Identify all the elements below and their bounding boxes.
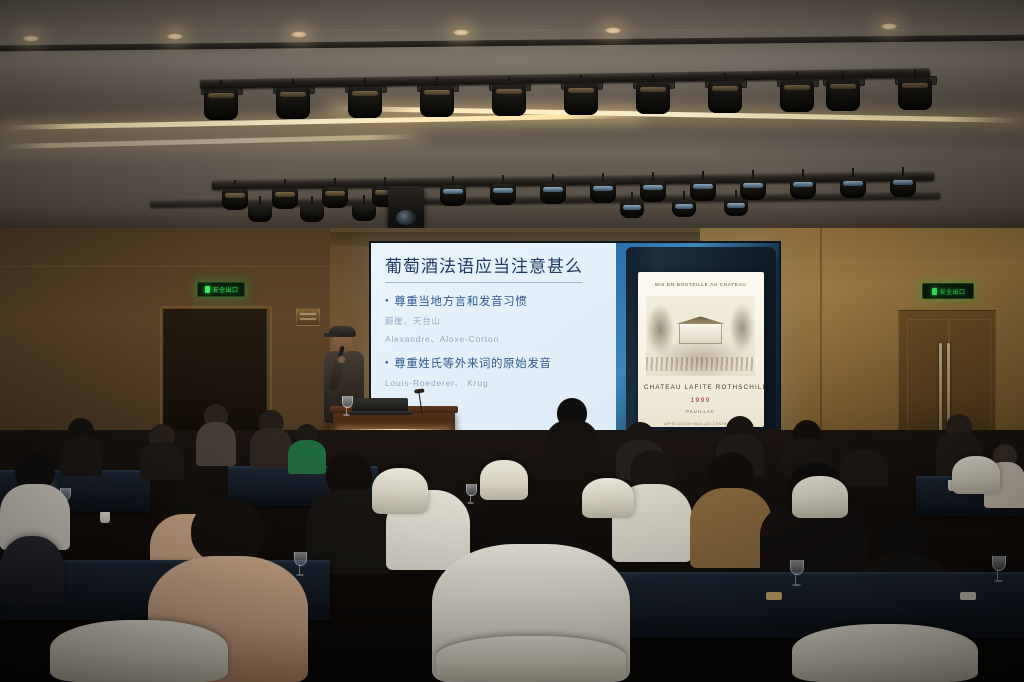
audience-person [196,404,236,466]
banquet-chair[interactable] [582,478,634,518]
ceiling-downlight [880,23,898,30]
presenter-cap [329,326,356,337]
stage-light-icon [272,179,298,209]
banquet-chair[interactable] [0,536,64,606]
stage-light-icon [780,72,814,112]
label-vintage: 1999 [644,397,757,404]
stage-light-icon [248,196,272,222]
stage-light-icon [790,169,816,199]
wine-bottle-label: MIS EN BOUTEILLE AU CHATEAU CHATEAU LAFI… [638,272,764,427]
stage-light-icon [490,175,516,205]
ceiling-downlight [22,35,40,42]
ceiling-downlight [290,31,308,38]
ceiling-downlight [166,33,184,40]
wine-glass-icon [992,556,1004,584]
banquet-chair[interactable] [436,636,626,682]
slide-bullet-1: 尊重当地方言和发音习惯 [385,293,618,309]
stage-light-icon [420,77,454,117]
stage-light-icon [322,178,348,208]
audience-person [546,398,598,468]
projector-icon [388,186,424,230]
stage-light-icon [352,195,376,221]
wine-glass-icon [790,560,802,588]
audience-person [140,424,184,480]
slide-subline-1: 蔚崖、天台山 [385,315,618,327]
stage-light-icon [204,80,238,120]
label-estate-name: CHATEAU LAFITE ROTHSCHILD [644,384,757,391]
banquet-chair[interactable] [952,456,1000,494]
label-appellation: PAUILLAC [644,409,757,414]
chateau-illustration [679,323,722,344]
audience-person [250,410,292,468]
table-front-right [600,572,1024,638]
stage-light-icon [898,70,932,110]
stage-light-icon [222,180,248,210]
stage-light-icon [300,196,324,222]
napkin [960,592,976,600]
stage-light-icon [492,76,526,116]
coffee-cup-icon [100,512,110,523]
ceiling-downlight [452,29,470,36]
presenter-hand [338,356,345,363]
exit-sign-right: 安全出口 [922,283,974,299]
conference-hall-photo: 安全出口 安全出口 葡萄酒法语应当注意甚么 尊重当地方言和发音习惯 蔚崖、天台山… [0,0,1024,682]
stage-light-icon [620,192,644,218]
stage-light-icon [826,71,860,111]
ceiling-downlight [604,27,622,34]
banquet-chair[interactable] [50,620,228,682]
stage-light-icon [564,75,598,115]
stage-light-icon [840,168,866,198]
exit-sign-right-label: 安全出口 [930,287,965,296]
label-top-line: MIS EN BOUTEILLE AU CHATEAU [645,282,756,287]
engraving-ground [646,357,754,371]
snack-plate [766,592,782,600]
label-engraving [646,296,754,377]
exit-sign-left: 安全出口 [197,282,245,297]
stage-light-icon [724,190,748,216]
wall-trim-line [0,266,330,267]
stage-light-icon [348,78,382,118]
slide-title: 葡萄酒法语应当注意甚么 [385,257,583,283]
stage-light-icon [440,176,466,206]
ceiling-seam [0,30,1024,31]
slide-subline-3: Louis-Roederer、 Krug [385,377,618,389]
exit-sign-left-label: 安全出口 [203,285,238,294]
wine-glass-icon [342,396,351,417]
banquet-chair[interactable] [480,460,528,500]
stage-light-icon [890,167,916,197]
wall-control-panel[interactable] [296,308,320,326]
banquet-chair[interactable] [792,624,978,682]
stage-light-icon [276,79,310,119]
stage-light-icon [540,174,566,204]
stage-light-icon [636,74,670,114]
stage-light-icon [708,73,742,113]
laptop-icon [352,398,408,414]
banquet-chair[interactable] [792,476,848,518]
stage-light-icon [672,191,696,217]
slide-subline-2: Alexandre、Aloxe-Corton [385,333,618,345]
slide-bullet-2: 尊重姓氏等外来词的原始发音 [385,355,618,371]
stage-light-icon [590,173,616,203]
banquet-chair[interactable] [372,468,428,514]
